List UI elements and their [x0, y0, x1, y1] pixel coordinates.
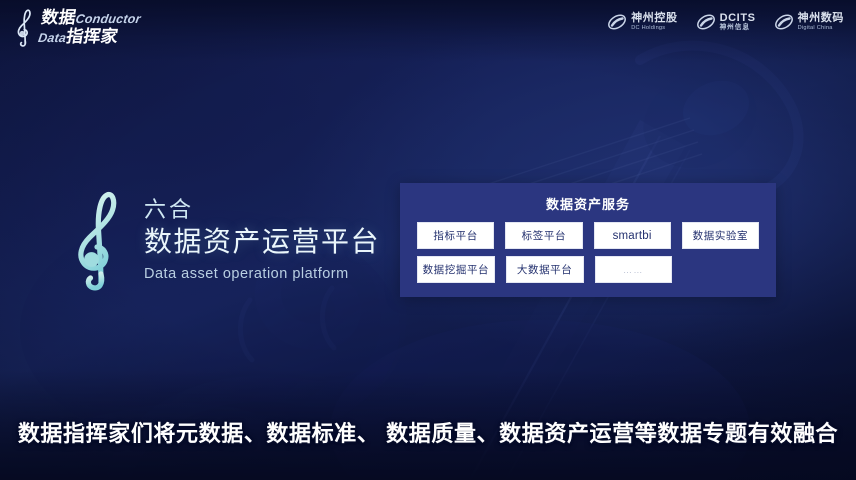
partner-logo-group: 神州控股 DC Holdings DCITS 神州信息 — [607, 12, 844, 32]
service-card-more[interactable]: …… — [595, 256, 673, 283]
swirl-logo-icon — [607, 12, 627, 32]
treble-clef-icon — [72, 188, 128, 292]
partner-name-en: DC Holdings — [631, 25, 677, 31]
platform-title-block: 六合 数据资产运营平台 Data asset operation platfor… — [72, 186, 380, 292]
service-card-biaoqian[interactable]: 标签平台 — [505, 222, 582, 249]
partner-name-en: 神州信息 — [720, 24, 756, 31]
page-subtitle: Data asset operation platform — [144, 266, 380, 282]
service-card-zhibiao[interactable]: 指标平台 — [417, 222, 494, 249]
partner-name-en: Digital China — [798, 25, 844, 31]
brand-line2-cn: 指挥家 — [65, 27, 120, 46]
service-card-placeholder — [683, 256, 759, 283]
partner-name-cn: 神州控股 — [631, 13, 677, 25]
brand-line2-en: Data — [37, 31, 67, 45]
service-card-dashuju[interactable]: 大数据平台 — [506, 256, 584, 283]
partner-logo-dc-holdings: 神州控股 DC Holdings — [607, 12, 677, 32]
slide-caption: 数据指挥家们将元数据、数据标准、 数据质量、数据资产运营等数据专题有效融合 — [0, 416, 856, 448]
service-card-row: 数据挖掘平台 大数据平台 …… — [417, 256, 759, 283]
partner-name-cn: 神州数码 — [798, 13, 844, 25]
service-card-smartbi[interactable]: smartbi — [594, 222, 671, 249]
service-panel: 数据资产服务 指标平台 标签平台 smartbi 数据实验室 数据挖掘平台 大数… — [400, 183, 776, 297]
header-bar: 数据Conductor Data指挥家 神州控股 DC Holdings — [0, 0, 856, 56]
partner-logo-dcits: DCITS 神州信息 — [696, 12, 756, 32]
brand-line1-en: Conductor — [75, 12, 142, 26]
partner-name-cn: DCITS — [720, 13, 756, 25]
brand-logo: 数据Conductor Data指挥家 — [14, 7, 139, 47]
service-card-shujushiyanshi[interactable]: 数据实验室 — [682, 222, 759, 249]
page-title: 数据资产运营平台 — [144, 224, 380, 260]
brand-wordmark: 数据Conductor Data指挥家 — [37, 9, 142, 45]
page-eyebrow: 六合 — [144, 196, 380, 224]
service-card-shujuwajue[interactable]: 数据挖掘平台 — [417, 256, 495, 283]
service-card-grid: 指标平台 标签平台 smartbi 数据实验室 数据挖掘平台 大数据平台 …… — [400, 213, 776, 283]
service-card-row: 指标平台 标签平台 smartbi 数据实验室 — [417, 222, 759, 249]
slide-root: 数据Conductor Data指挥家 神州控股 DC Holdings — [0, 0, 856, 480]
service-panel-title: 数据资产服务 — [400, 183, 776, 213]
treble-clef-icon — [14, 7, 36, 47]
swirl-logo-icon — [774, 12, 794, 32]
swirl-logo-icon — [696, 12, 716, 32]
brand-line1-cn: 数据 — [40, 8, 77, 27]
partner-logo-digital-china: 神州数码 Digital China — [774, 12, 844, 32]
